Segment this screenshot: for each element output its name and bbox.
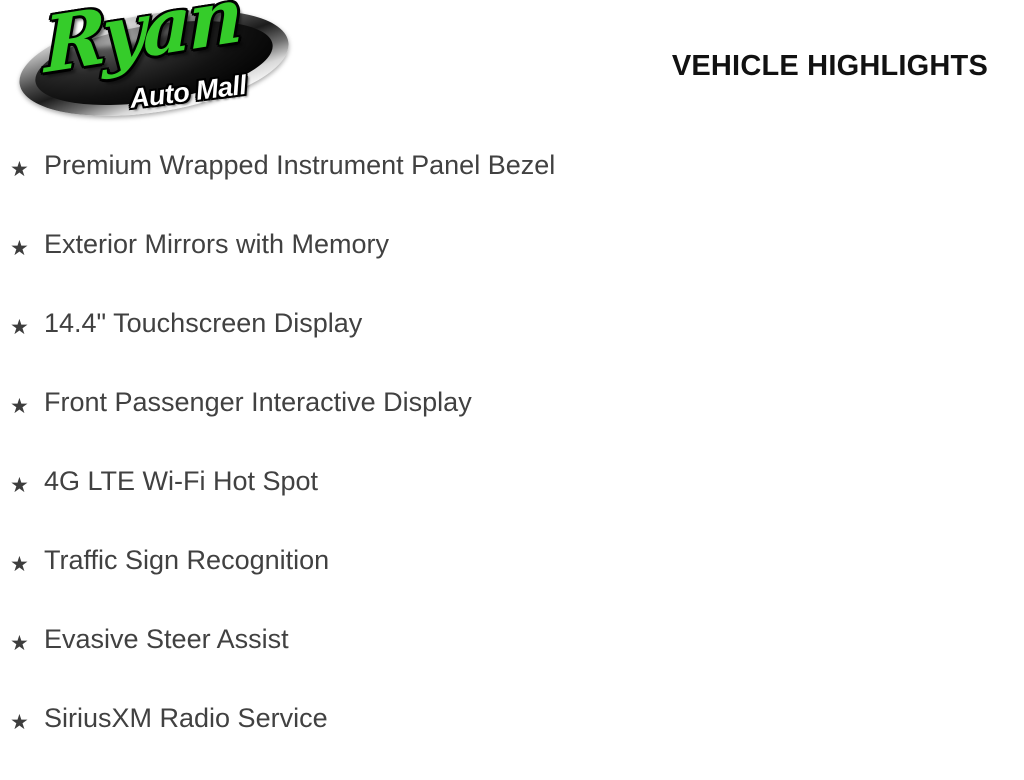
star-icon: ★ [10,395,34,419]
list-item-label: Premium Wrapped Instrument Panel Bezel [44,148,555,182]
list-item-label: 14.4" Touchscreen Display [44,306,362,340]
list-item: ★ Front Passenger Interactive Display [0,385,1024,464]
list-item: ★ Evasive Steer Assist [0,622,1024,701]
star-icon: ★ [10,158,34,182]
page-header: Ryan Auto Mall VEHICLE HIGHLIGHTS [0,0,1024,130]
star-icon: ★ [10,711,34,735]
list-item-label: Exterior Mirrors with Memory [44,227,389,261]
list-item: ★ 4G LTE Wi-Fi Hot Spot [0,464,1024,543]
list-item-label: 4G LTE Wi-Fi Hot Spot [44,464,318,498]
list-item-label: Traffic Sign Recognition [44,543,329,577]
list-item: ★ 14.4" Touchscreen Display [0,306,1024,385]
star-icon: ★ [10,632,34,656]
page-title: VEHICLE HIGHLIGHTS [672,50,988,82]
list-item: ★ SiriusXM Radio Service [0,701,1024,780]
list-item-label: Evasive Steer Assist [44,622,289,656]
star-icon: ★ [10,237,34,261]
list-item: ★ Traffic Sign Recognition [0,543,1024,622]
star-icon: ★ [10,474,34,498]
dealer-logo[interactable]: Ryan Auto Mall [18,6,290,122]
list-item-label: Front Passenger Interactive Display [44,385,472,419]
vehicle-highlights-list: ★ Premium Wrapped Instrument Panel Bezel… [0,148,1024,780]
list-item-label: SiriusXM Radio Service [44,701,328,735]
list-item: ★ Premium Wrapped Instrument Panel Bezel [0,148,1024,227]
star-icon: ★ [10,553,34,577]
list-item: ★ Exterior Mirrors with Memory [0,227,1024,306]
star-icon: ★ [10,316,34,340]
